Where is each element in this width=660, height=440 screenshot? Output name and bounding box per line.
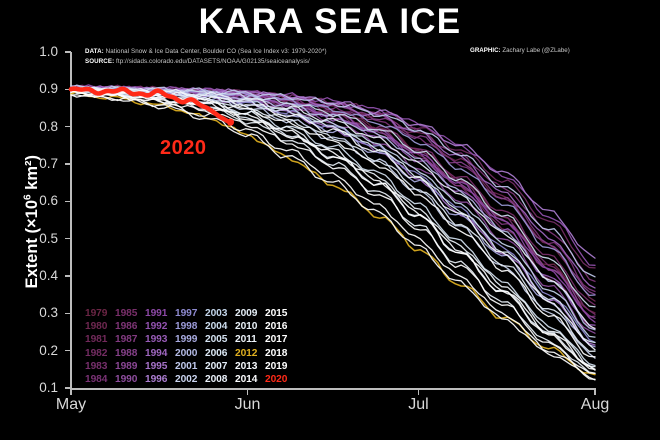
line-1991 — [71, 87, 595, 322]
legend-year-1994[interactable]: 1994 — [145, 348, 171, 361]
legend-year-2015[interactable]: 2015 — [265, 308, 291, 321]
legend-year-2011[interactable]: 2011 — [235, 334, 261, 347]
chart-root: KARA SEA ICE DATA: National Snow & Ice D… — [0, 0, 660, 440]
legend-year-1986[interactable]: 1986 — [115, 321, 141, 334]
legend-year-1985[interactable]: 1985 — [115, 308, 141, 321]
line-1995 — [71, 89, 595, 345]
legend-year-1990[interactable]: 1990 — [115, 374, 141, 387]
legend-year-2006[interactable]: 2006 — [205, 348, 231, 361]
legend-year-1983[interactable]: 1983 — [85, 361, 111, 374]
legend-year-1982[interactable]: 1982 — [85, 348, 111, 361]
line-2006 — [71, 88, 595, 343]
year-legend: 1979198519911997200320092015198019861992… — [85, 308, 291, 387]
legend-year-1984[interactable]: 1984 — [85, 374, 111, 387]
legend-year-2016[interactable]: 2016 — [265, 321, 291, 334]
legend-year-1993[interactable]: 1993 — [145, 334, 171, 347]
legend-year-2013[interactable]: 2013 — [235, 361, 261, 374]
legend-year-2009[interactable]: 2009 — [235, 308, 261, 321]
legend-year-2004[interactable]: 2004 — [205, 321, 231, 334]
annotation-2020: 2020 — [160, 137, 207, 160]
legend-year-2012[interactable]: 2012 — [235, 348, 261, 361]
legend-year-2010[interactable]: 2010 — [235, 321, 261, 334]
line-1979 — [71, 86, 595, 313]
legend-year-2002[interactable]: 2002 — [175, 374, 201, 387]
legend-year-2005[interactable]: 2005 — [205, 334, 231, 347]
legend-year-2019[interactable]: 2019 — [265, 361, 291, 374]
legend-year-1995[interactable]: 1995 — [145, 361, 171, 374]
legend-year-2018[interactable]: 2018 — [265, 348, 291, 361]
legend-year-1980[interactable]: 1980 — [85, 321, 111, 334]
legend-year-1997[interactable]: 1997 — [175, 308, 201, 321]
legend-year-2020[interactable]: 2020 — [265, 374, 291, 387]
legend-year-2014[interactable]: 2014 — [235, 374, 261, 387]
legend-year-2001[interactable]: 2001 — [175, 361, 201, 374]
legend-year-1987[interactable]: 1987 — [115, 334, 141, 347]
line-1985 — [71, 87, 595, 305]
legend-year-1992[interactable]: 1992 — [145, 321, 171, 334]
line-1987 — [71, 88, 595, 317]
legend-year-2007[interactable]: 2007 — [205, 361, 231, 374]
legend-year-1989[interactable]: 1989 — [115, 361, 141, 374]
legend-year-1979[interactable]: 1979 — [85, 308, 111, 321]
line-1983 — [71, 88, 595, 314]
legend-year-2003[interactable]: 2003 — [205, 308, 231, 321]
legend-year-1999[interactable]: 1999 — [175, 334, 201, 347]
legend-year-1991[interactable]: 1991 — [145, 308, 171, 321]
legend-year-2017[interactable]: 2017 — [265, 334, 291, 347]
legend-year-2008[interactable]: 2008 — [205, 374, 231, 387]
legend-year-1988[interactable]: 1988 — [115, 348, 141, 361]
legend-year-1998[interactable]: 1998 — [175, 321, 201, 334]
endpoint-marker-2020 — [227, 119, 234, 126]
legend-year-2000[interactable]: 2000 — [175, 348, 201, 361]
legend-year-1981[interactable]: 1981 — [85, 334, 111, 347]
legend-year-1996[interactable]: 1996 — [145, 374, 171, 387]
